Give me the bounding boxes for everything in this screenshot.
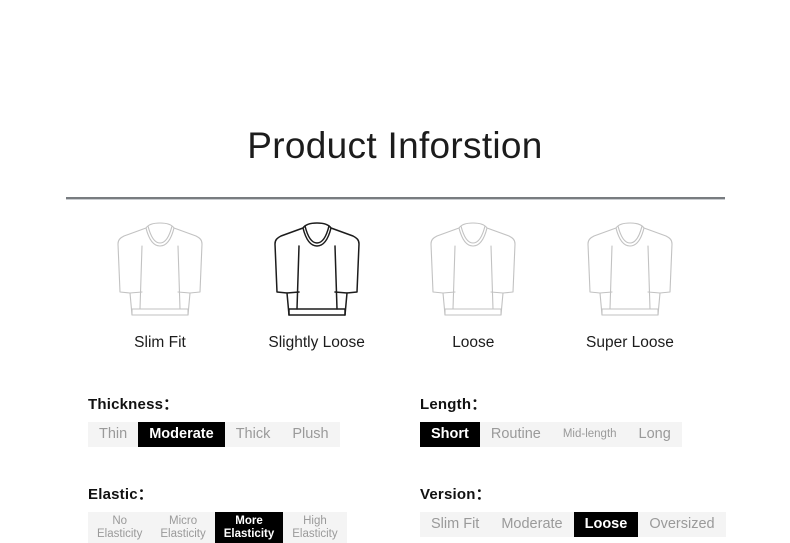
chip-high-elasticity[interactable]: High Elasticity bbox=[283, 512, 346, 543]
chip-thick[interactable]: Thick bbox=[225, 422, 282, 447]
chip-moderate[interactable]: Moderate bbox=[490, 512, 573, 537]
page-title: Product Inforstion bbox=[0, 122, 790, 170]
chip-row-thickness: Thin Moderate Thick Plush bbox=[88, 422, 340, 447]
fit-option-label: Loose bbox=[452, 334, 494, 352]
chip-thin[interactable]: Thin bbox=[88, 422, 138, 447]
chip-long[interactable]: Long bbox=[628, 422, 682, 447]
chip-slim-fit[interactable]: Slim Fit bbox=[420, 512, 490, 537]
group-title-elastic: Elastic： bbox=[88, 483, 347, 504]
chip-loose[interactable]: Loose bbox=[574, 512, 639, 537]
chip-line-1: No bbox=[112, 515, 127, 527]
chip-micro-elasticity[interactable]: Micro Elasticity bbox=[151, 512, 214, 543]
chip-line-1: Micro bbox=[169, 515, 197, 527]
title-divider-shadow bbox=[66, 199, 725, 200]
group-title-length: Length： bbox=[420, 393, 682, 414]
chip-no-elasticity[interactable]: No Elasticity bbox=[88, 512, 151, 543]
chip-more-elasticity[interactable]: More Elasticity bbox=[215, 512, 284, 543]
option-group-version: Version： Slim Fit Moderate Loose Oversiz… bbox=[420, 483, 726, 537]
group-title-version: Version： bbox=[420, 483, 726, 504]
sweatshirt-icon bbox=[104, 216, 216, 324]
fit-option-label: Slim Fit bbox=[134, 334, 186, 352]
chip-routine[interactable]: Routine bbox=[480, 422, 552, 447]
chip-line-1: More bbox=[235, 515, 262, 527]
fit-option-slim-fit[interactable]: Slim Fit bbox=[85, 216, 235, 352]
chip-row-version: Slim Fit Moderate Loose Oversized bbox=[420, 512, 726, 537]
sweatshirt-icon bbox=[417, 216, 529, 324]
chip-plush[interactable]: Plush bbox=[281, 422, 339, 447]
chip-short[interactable]: Short bbox=[420, 422, 480, 447]
chip-line-1: High bbox=[303, 515, 327, 527]
sweatshirt-icon bbox=[261, 216, 373, 324]
option-group-thickness: Thickness： Thin Moderate Thick Plush bbox=[88, 393, 340, 447]
fit-option-label: Super Loose bbox=[586, 334, 674, 352]
chip-row-elastic: No Elasticity Micro Elasticity More Elas… bbox=[88, 512, 347, 543]
fit-option-label: Slightly Loose bbox=[268, 334, 365, 352]
product-information-panel: Product Inforstion Slim Fit bbox=[0, 0, 790, 538]
chip-moderate[interactable]: Moderate bbox=[138, 422, 224, 447]
fit-option-loose[interactable]: Loose bbox=[398, 216, 548, 352]
chip-mid-length[interactable]: Mid-length bbox=[552, 422, 628, 447]
option-group-elastic: Elastic： No Elasticity Micro Elasticity … bbox=[88, 483, 347, 543]
fit-option-slightly-loose[interactable]: Slightly Loose bbox=[242, 216, 392, 352]
chip-oversized[interactable]: Oversized bbox=[638, 512, 725, 537]
fit-gallery: Slim Fit Slightly Loose bbox=[85, 216, 705, 358]
group-title-thickness: Thickness： bbox=[88, 393, 340, 414]
sweatshirt-icon bbox=[574, 216, 686, 324]
option-group-length: Length： Short Routine Mid-length Long bbox=[420, 393, 682, 447]
chip-row-length: Short Routine Mid-length Long bbox=[420, 422, 682, 447]
fit-option-super-loose[interactable]: Super Loose bbox=[555, 216, 705, 352]
